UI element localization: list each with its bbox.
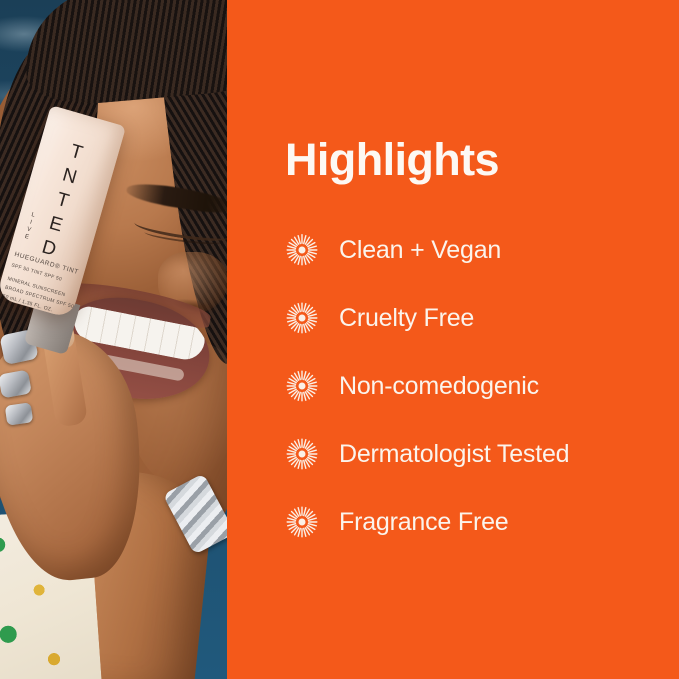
silver-ring	[5, 402, 34, 425]
highlights-list: Clean + Vegan	[285, 227, 661, 545]
page-title: Highlights	[285, 136, 661, 183]
list-item: Cruelty Free	[285, 295, 661, 341]
list-item: Dermatologist Tested	[285, 431, 661, 477]
highlight-label: Fragrance Free	[339, 508, 509, 537]
starburst-icon	[285, 301, 319, 335]
list-item: Clean + Vegan	[285, 227, 661, 273]
tube-brand-tag: LIVE	[23, 212, 37, 243]
starburst-icon	[285, 233, 319, 267]
highlight-label: Cruelty Free	[339, 304, 474, 333]
highlight-label: Clean + Vegan	[339, 236, 501, 265]
model-photo: TNTED LIVE HUEGUARD® TINT SPF 50 TINT SP…	[0, 0, 227, 679]
starburst-icon	[285, 369, 319, 403]
list-item: Non-comedogenic	[285, 363, 661, 409]
product-highlights-graphic: TNTED LIVE HUEGUARD® TINT SPF 50 TINT SP…	[0, 0, 679, 679]
list-item: Fragrance Free	[285, 499, 661, 545]
highlight-label: Non-comedogenic	[339, 372, 539, 401]
tube-brand-name: TNTED	[34, 139, 90, 265]
braided-hair-top	[19, 0, 227, 109]
starburst-icon	[285, 505, 319, 539]
starburst-icon	[285, 437, 319, 471]
highlight-label: Dermatologist Tested	[339, 440, 569, 469]
highlights-panel: Highlights	[227, 0, 679, 679]
